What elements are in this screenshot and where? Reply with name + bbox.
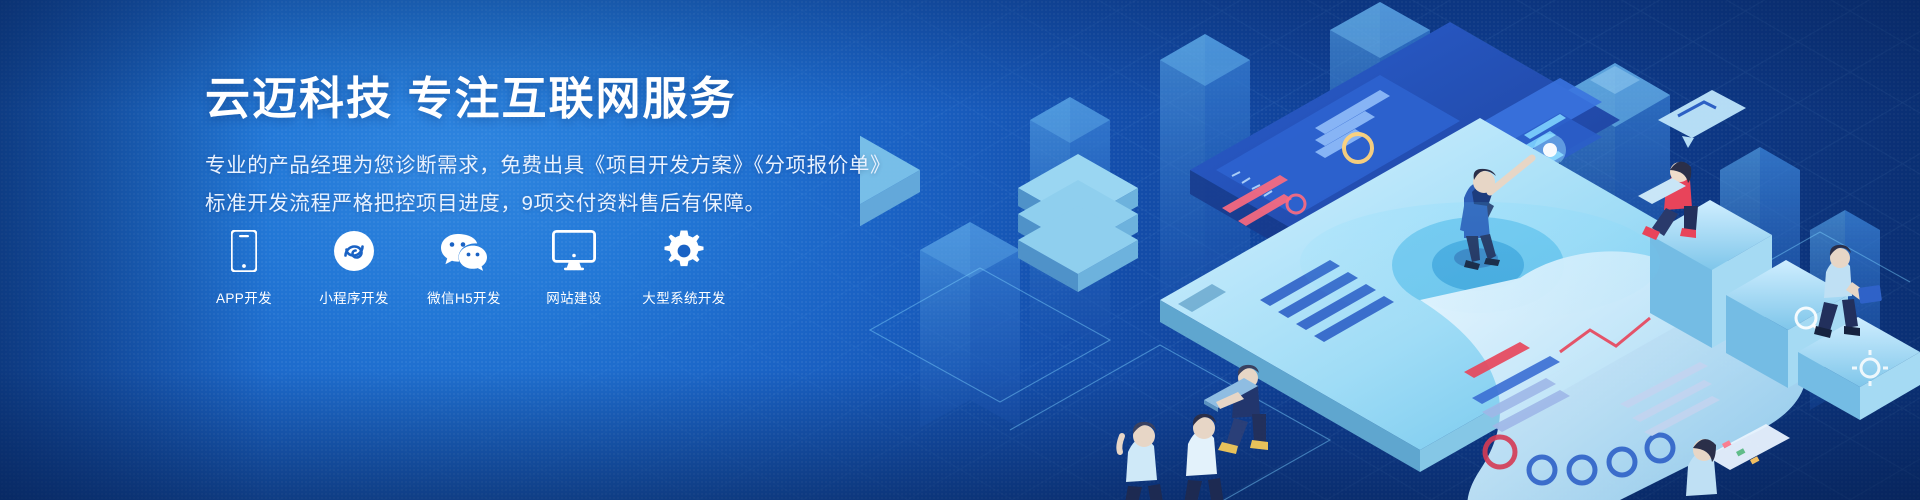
hero-subtitle-line-1: 专业的产品经理为您诊断需求，免费出具《项目开发方案》《分项报价单》 <box>205 147 905 185</box>
person-standing-pointing <box>1454 158 1532 270</box>
gear-icon <box>663 228 705 274</box>
service-item-miniprogram[interactable]: 小程序开发 <box>315 228 393 307</box>
person-on-block-laptop <box>1638 162 1698 240</box>
person-pair-foreground-a <box>1119 422 1164 500</box>
monitor-icon <box>552 228 596 274</box>
server-rack-icon <box>1018 154 1138 292</box>
service-item-large-system[interactable]: 大型系统开发 <box>645 228 723 307</box>
floor-grid-lines <box>870 160 1910 500</box>
service-item-app[interactable]: APP开发 <box>205 228 283 307</box>
dashboard-screen <box>1190 22 1620 292</box>
mini-program-icon <box>333 228 375 274</box>
data-ribbon <box>1420 251 1806 500</box>
service-list: APP开发 小程序开发 <box>205 228 723 307</box>
person-foreground-right <box>1686 439 1717 496</box>
person-walking-briefcase <box>1814 245 1882 338</box>
service-label-app: APP开发 <box>216 287 272 307</box>
service-label-large-system: 大型系统开发 <box>642 287 725 307</box>
hero-banner: 云迈科技 专注互联网服务 专业的产品经理为您诊断需求，免费出具《项目开发方案》《… <box>0 0 1920 500</box>
mobile-phone-icon <box>231 228 257 274</box>
service-label-wechat-h5: 微信H5开发 <box>427 287 501 307</box>
service-item-website[interactable]: 网站建设 <box>535 228 613 307</box>
hero-subtitle-line-2: 标准开发流程严格把控项目进度，9项交付资料售后有保障。 <box>205 185 905 223</box>
isometric-technology-illustration <box>860 0 1920 500</box>
service-label-website: 网站建设 <box>546 287 602 307</box>
hero-copy-block: 云迈科技 专注互联网服务 专业的产品经理为您诊断需求，免费出具《项目开发方案》《… <box>205 72 905 223</box>
staircase-blocks <box>1650 90 1920 420</box>
person-seated-laptop <box>1204 365 1268 454</box>
wechat-icon <box>440 228 488 274</box>
service-item-wechat-h5[interactable]: 微信H5开发 <box>425 228 503 307</box>
background-towers <box>920 2 1880 428</box>
person-pair-foreground-b <box>1184 414 1224 500</box>
service-label-miniprogram: 小程序开发 <box>319 287 389 307</box>
hero-subtitle: 专业的产品经理为您诊断需求，免费出具《项目开发方案》《分项报价单》 标准开发流程… <box>205 147 905 223</box>
page-title: 云迈科技 专注互联网服务 <box>205 72 905 125</box>
phone-platform <box>1160 118 1740 472</box>
